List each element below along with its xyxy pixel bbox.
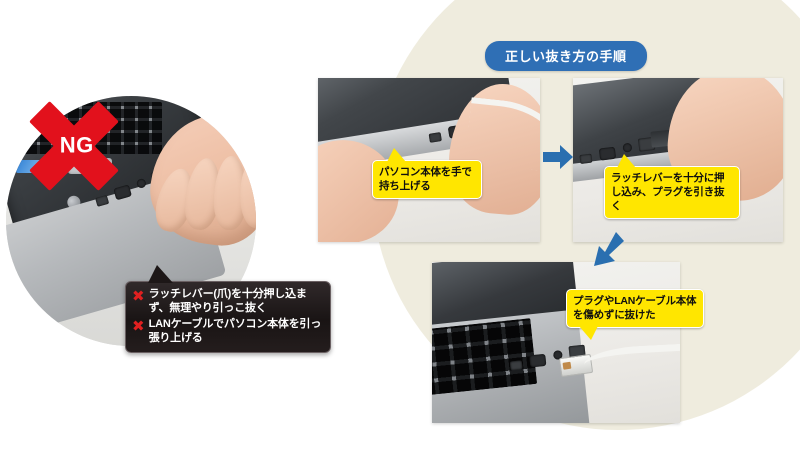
callout-tail bbox=[617, 154, 636, 168]
red-x-icon: ✖ bbox=[132, 289, 145, 304]
usb-port bbox=[579, 154, 592, 164]
audio-jack bbox=[622, 143, 632, 153]
hdmi-port bbox=[529, 354, 546, 368]
usb-port bbox=[95, 195, 109, 207]
usb-port bbox=[429, 132, 442, 143]
step-1-callout-text: パソコン本体を手で持ち上げる bbox=[379, 166, 472, 192]
audio-jack bbox=[136, 178, 147, 189]
red-x-icon: ✖ bbox=[132, 319, 145, 334]
ng-badge-label: NG bbox=[60, 132, 94, 158]
ng-caption-text: ラッチレバー(爪)を十分押し込まず、無理やり引っこ抜く bbox=[149, 288, 322, 315]
step-2-callout-text: ラッチレバーを十分に押し込み、プラグを引き抜く bbox=[611, 172, 724, 212]
ng-caption-text: LANケーブルでパソコン本体を引っ張り上げる bbox=[149, 318, 322, 345]
step-3-callout-text: プラグやLANケーブル本体を傷めずに抜けた bbox=[573, 295, 696, 321]
step-2-callout: ラッチレバーを十分に押し込み、プラグを引き抜く bbox=[604, 166, 740, 219]
ng-caption-line: ✖ ラッチレバー(爪)を十分押し込まず、無理やり引っこ抜く bbox=[132, 288, 322, 315]
caption-tail bbox=[148, 265, 173, 283]
arrow-down-icon bbox=[582, 232, 624, 276]
step-1-callout: パソコン本体を手で持ち上げる bbox=[372, 160, 482, 199]
callout-tail bbox=[579, 326, 598, 340]
ng-caption-line: ✖ LANケーブルでパソコン本体を引っ張り上げる bbox=[132, 318, 322, 345]
ng-caption-box: ✖ ラッチレバー(爪)を十分押し込まず、無理やり引っこ抜く ✖ LANケーブルで… bbox=[125, 281, 331, 353]
arrow-right-icon bbox=[543, 144, 573, 170]
ng-badge: NG bbox=[22, 98, 126, 194]
callout-tail bbox=[387, 148, 406, 162]
usb-port bbox=[510, 360, 523, 370]
hdmi-port bbox=[599, 147, 616, 161]
guide-page: NG ✖ ラッチレバー(爪)を十分押し込まず、無理やり引っこ抜く ✖ LANケー… bbox=[0, 0, 800, 449]
step-3-photo bbox=[432, 262, 680, 423]
section-title: 正しい抜き方の手順 bbox=[485, 41, 647, 71]
step-3-callout: プラグやLANケーブル本体を傷めずに抜けた bbox=[566, 289, 704, 328]
